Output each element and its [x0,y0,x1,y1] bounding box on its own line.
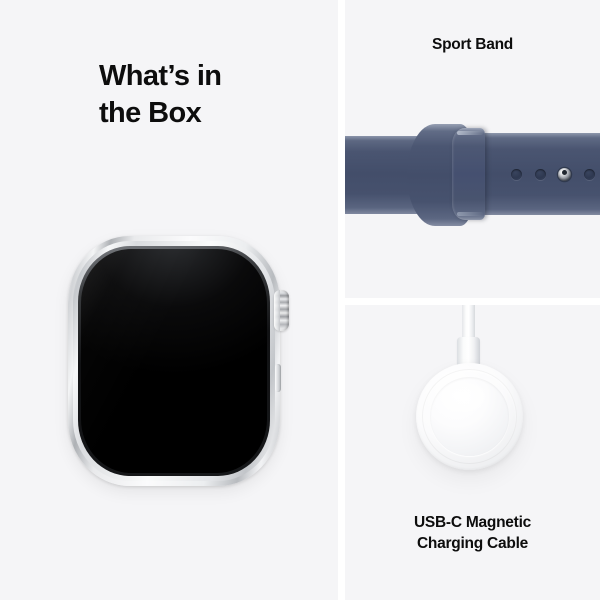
charging-puck-inner [430,377,509,456]
side-button-icon[interactable] [275,364,281,392]
band-keeper-edge-bottom [457,212,483,216]
sport-band-illustration [345,0,600,298]
band-keeper-edge-top [457,131,483,135]
whats-in-the-box-graphic: What’s in the Box Sport Band [0,0,600,600]
charging-cable-panel: USB-C Magnetic Charging Cable [345,305,600,600]
sport-band-panel: Sport Band [345,0,600,298]
digital-crown-highlight [274,290,280,331]
band-hole [584,169,595,180]
band-hole [511,169,522,180]
charging-cable-illustration [345,305,600,600]
watch-panel: What’s in the Box [0,0,338,600]
watch-display [81,249,267,473]
cable-cord [462,305,475,341]
band-hole [535,169,546,180]
page-title: What’s in the Box [99,58,319,132]
band-keeper-loop [452,128,485,220]
band-pin-notch [562,170,567,175]
apple-watch-illustration [66,234,286,488]
charging-cable-label: USB-C Magnetic Charging Cable [345,513,600,554]
